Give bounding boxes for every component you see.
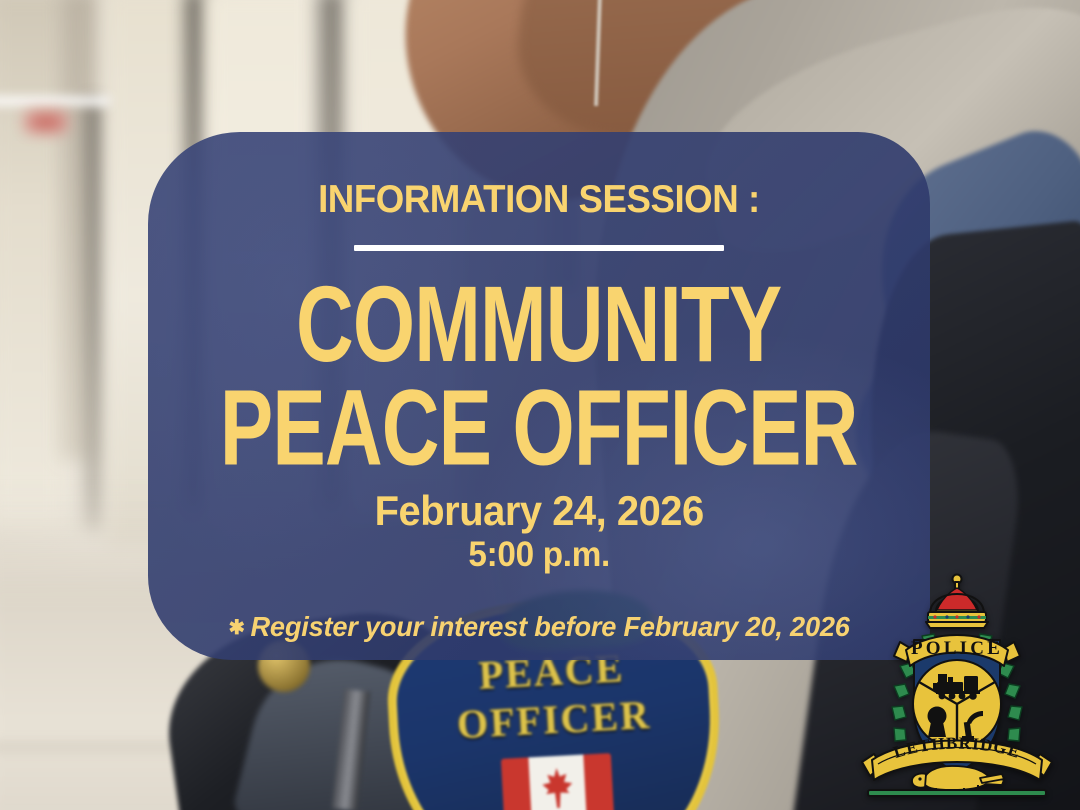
registration-note: ✱Register your interest before February …	[228, 611, 849, 643]
page-title-line-1: COMMUNITY	[296, 264, 781, 385]
royal-crown-icon	[926, 575, 988, 629]
asterisk-icon: ✱	[228, 617, 244, 639]
event-date: February 24, 2026	[374, 488, 703, 533]
svg-text:POLICE: POLICE	[911, 638, 1003, 659]
title-divider	[354, 245, 724, 251]
wall-sign	[24, 110, 68, 134]
hallway-door-gap	[86, 100, 104, 530]
session-kicker: INFORMATION SESSION :	[318, 180, 760, 219]
event-datetime: February 24, 2026 5:00 p.m.	[366, 488, 712, 577]
event-time: 5:00 p.m.	[374, 533, 703, 577]
page-title: COMMUNITY PEACE OFFICER	[220, 273, 858, 480]
crest-base-bar	[868, 790, 1046, 796]
panel-content: INFORMATION SESSION : COMMUNITY PEACE OF…	[148, 132, 930, 660]
info-panel: INFORMATION SESSION : COMMUNITY PEACE OF…	[148, 132, 930, 660]
lethbridge-police-crest-logo: POLICE	[852, 570, 1062, 798]
poster-canvas: PEACE OFFICER INFORMATION SESSION : COMM…	[0, 0, 1080, 810]
keyhole-icon	[928, 707, 947, 738]
page-title-line-2: PEACE OFFICER	[220, 377, 858, 481]
registration-note-text: Register your interest before February 2…	[250, 611, 849, 642]
hallway-wall-slab	[0, 0, 65, 530]
wall-stripe	[0, 96, 110, 106]
